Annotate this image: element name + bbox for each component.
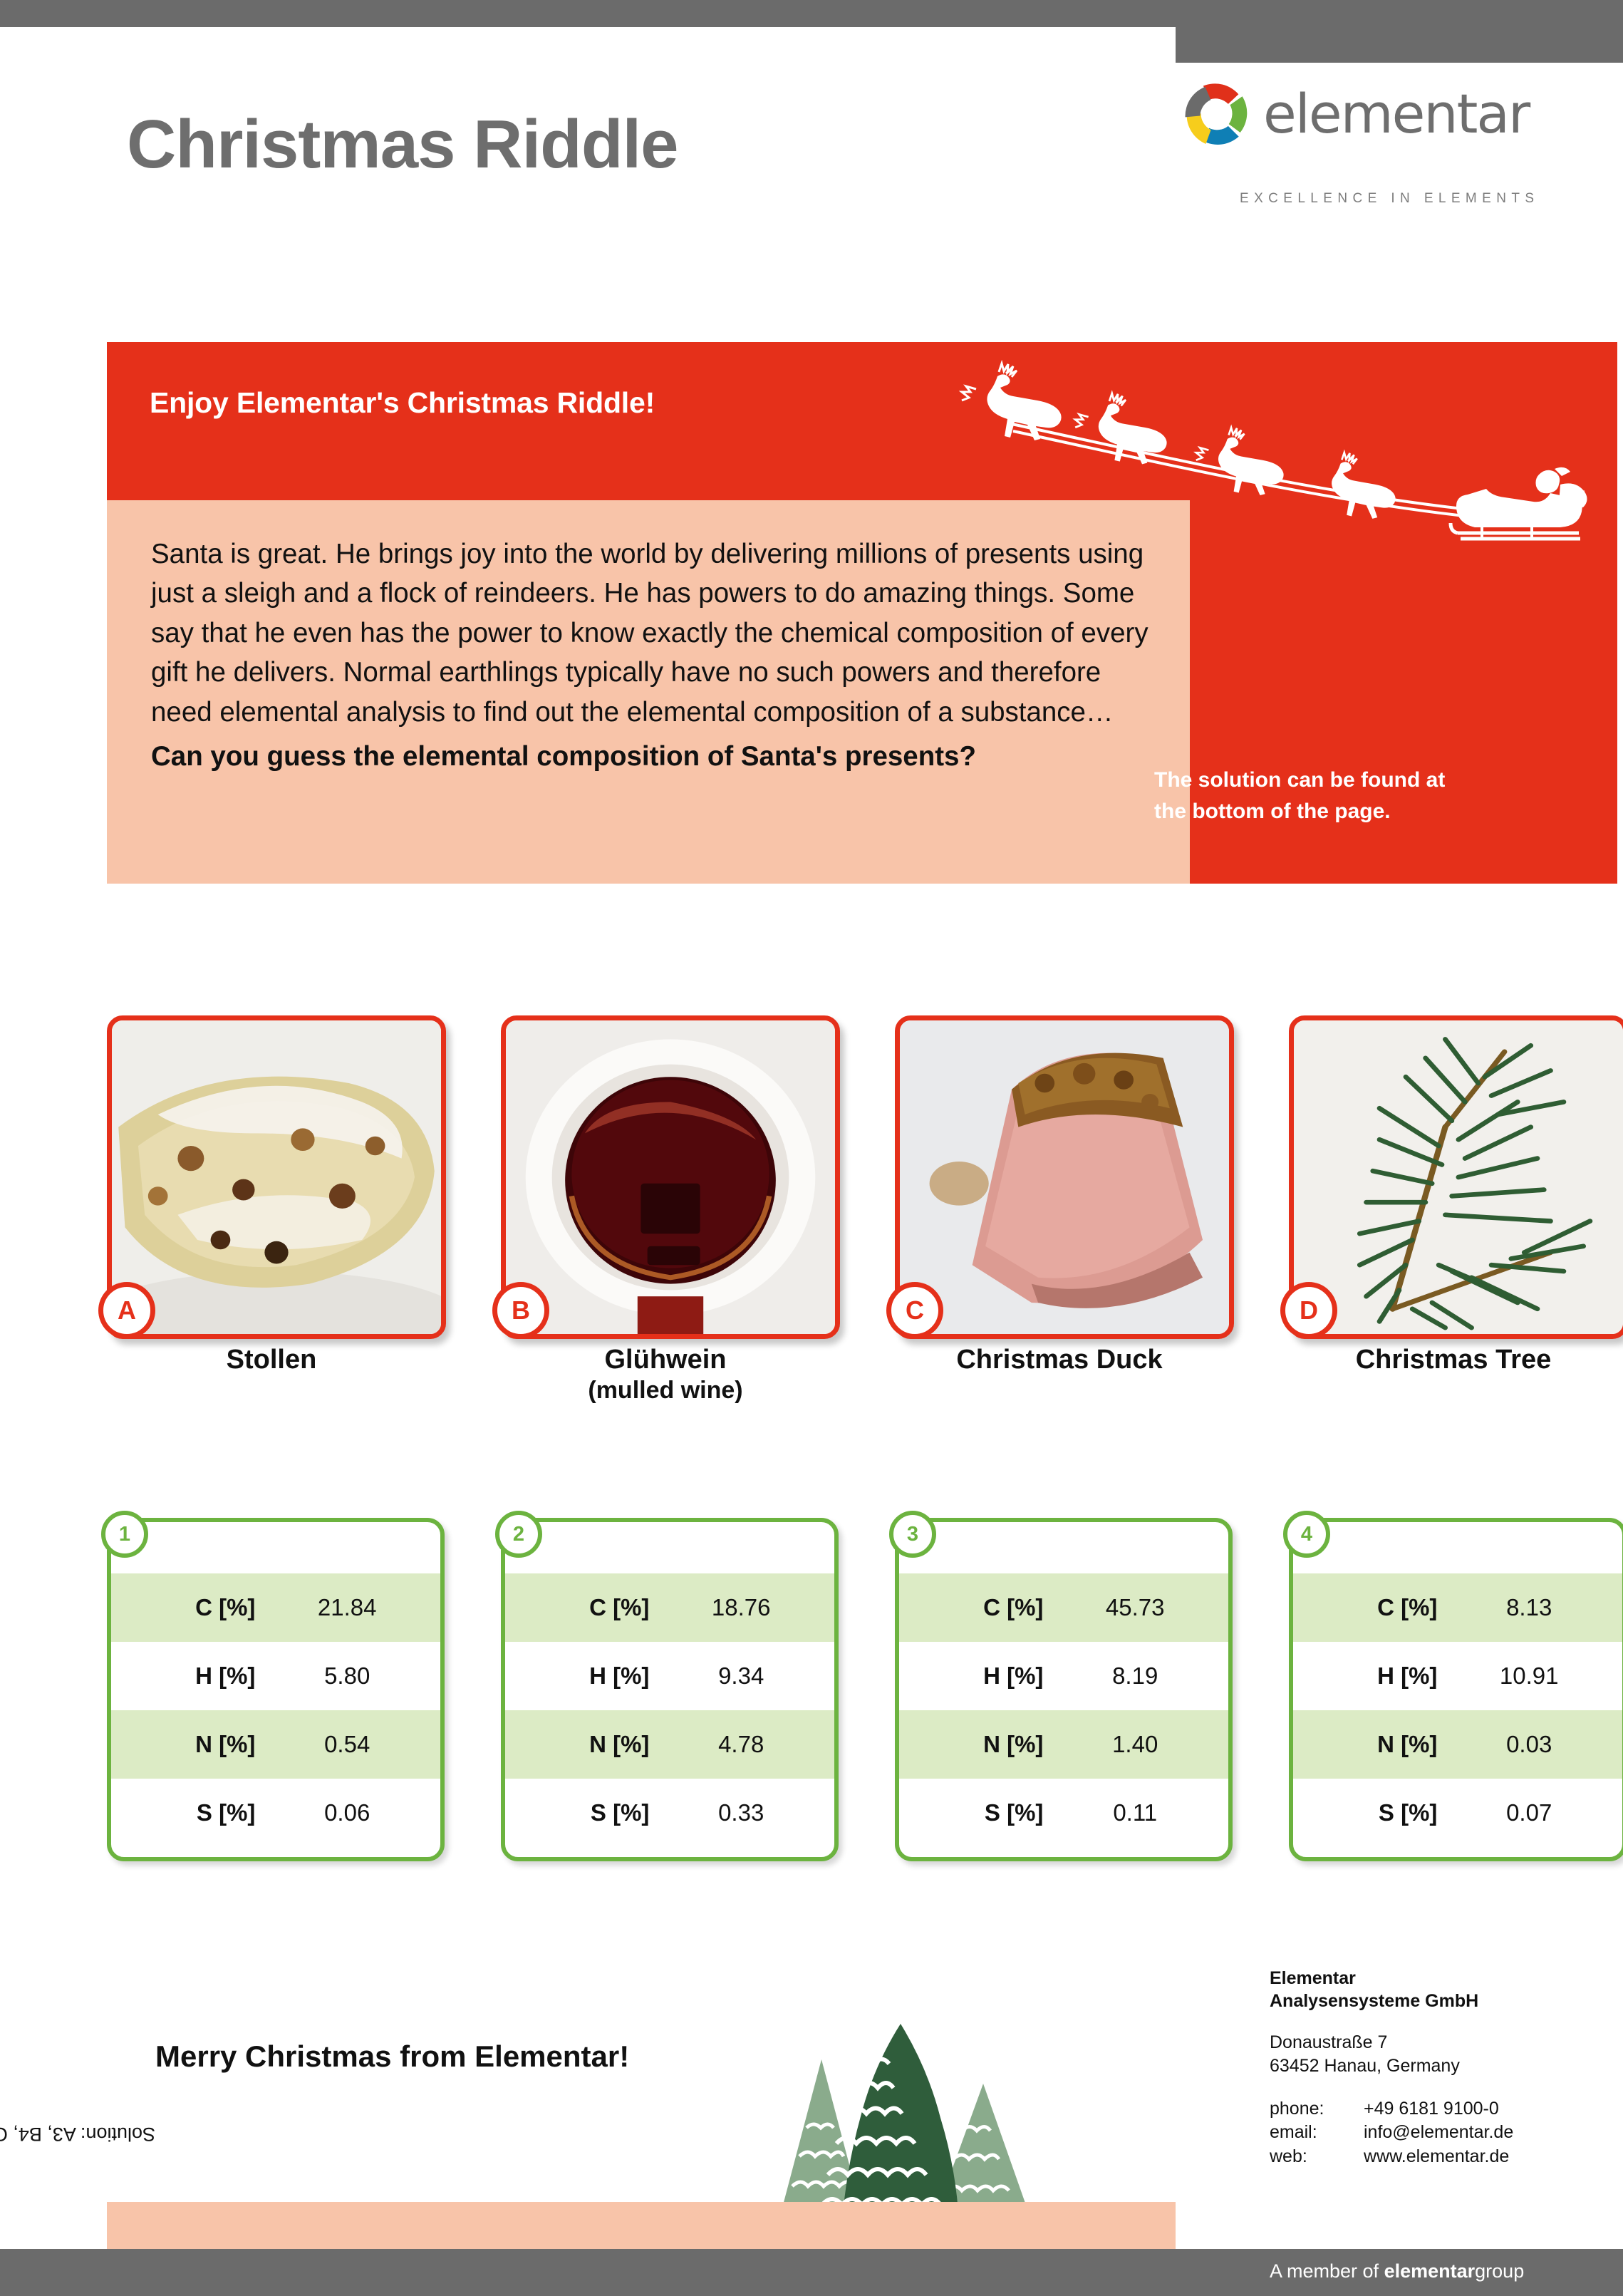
solution-hint: The solution can be found at the bottom … (1154, 765, 1482, 827)
address-line1: Donaustraße 7 (1270, 2031, 1604, 2054)
company-address: Donaustraße 7 63452 Hanau, Germany (1270, 2031, 1604, 2077)
row-key: H [%] (505, 1662, 656, 1690)
sample-cards: A Stollen B Glühwein (mulled wine) (107, 1015, 1617, 1443)
table-row: S [%] 0.06 (111, 1779, 440, 1847)
contact-rows: phone: +49 6181 9100-0 email: info@eleme… (1270, 2097, 1604, 2168)
table-row: C [%] 45.73 (899, 1573, 1228, 1642)
row-value: 0.06 (262, 1799, 440, 1826)
riddle-body-box: Santa is great. He brings joy into the w… (107, 500, 1190, 884)
contact-row-web[interactable]: web: www.elementar.de (1270, 2145, 1604, 2168)
composition-table-2-badge: 2 (495, 1511, 542, 1558)
sample-card-a-badge: A (98, 1282, 155, 1339)
composition-table-3-rows: C [%] 45.73 H [%] 8.19 N [%] 1.40 S [%] … (899, 1573, 1228, 1847)
mulled-wine-photo (506, 1020, 835, 1334)
company-name-line2: Analysensysteme GmbH (1270, 1990, 1604, 2012)
row-key: H [%] (899, 1662, 1050, 1690)
composition-table-4-badge: 4 (1283, 1511, 1330, 1558)
row-key: H [%] (111, 1662, 262, 1690)
email-label: email: (1270, 2121, 1364, 2144)
sample-card-b-badge: B (492, 1282, 549, 1339)
sample-card-d-badge: D (1280, 1282, 1337, 1339)
address-line2: 63452 Hanau, Germany (1270, 2054, 1604, 2078)
row-value: 8.13 (1444, 1594, 1622, 1621)
row-key: C [%] (899, 1594, 1050, 1621)
sample-card-a-frame (107, 1015, 446, 1339)
row-key: N [%] (505, 1731, 656, 1758)
row-value: 21.84 (262, 1594, 440, 1621)
table-row: S [%] 0.11 (899, 1779, 1228, 1847)
contact-row-phone: phone: +49 6181 9100-0 (1270, 2097, 1604, 2121)
sample-card-a-label-main: Stollen (227, 1345, 317, 1375)
sample-card-b-frame (501, 1015, 840, 1339)
row-value: 45.73 (1050, 1594, 1228, 1621)
phone-label: phone: (1270, 2097, 1364, 2121)
contact-block: Elementar Analysensysteme GmbH Donaustra… (1270, 1967, 1604, 2168)
email-value[interactable]: info@elementar.de (1364, 2121, 1513, 2144)
table-row: N [%] 1.40 (899, 1710, 1228, 1779)
company-name-line1: Elementar (1270, 1967, 1604, 1990)
member-of-text: A member of elementargroup (1270, 2260, 1524, 2282)
composition-tables: 1 C [%] 21.84 H [%] 5.80 N [%] 0.54 S [%… (107, 1518, 1617, 1874)
row-value: 0.11 (1050, 1799, 1228, 1826)
elementar-logo-tagline: EXCELLENCE IN ELEMENTS (1240, 191, 1539, 207)
row-key: N [%] (899, 1731, 1050, 1758)
sample-card-b[interactable]: B Glühwein (mulled wine) (501, 1015, 830, 1329)
top-bar-right (1176, 0, 1623, 63)
row-value: 4.78 (656, 1731, 834, 1758)
table-row: C [%] 18.76 (505, 1573, 834, 1642)
contact-row-email[interactable]: email: info@elementar.de (1270, 2121, 1604, 2144)
table-row: H [%] 9.34 (505, 1642, 834, 1710)
composition-table-1-badge: 1 (101, 1511, 148, 1558)
row-value: 9.34 (656, 1662, 834, 1690)
composition-table-3-badge: 3 (889, 1511, 936, 1558)
table-row: N [%] 0.54 (111, 1710, 440, 1779)
stollen-photo (112, 1020, 441, 1334)
composition-table-4[interactable]: 4 C [%] 8.13 H [%] 10.91 N [%] 0.03 S [%… (1289, 1518, 1623, 1861)
sample-card-d-label-main: Christmas Tree (1356, 1345, 1552, 1375)
composition-table-1-rows: C [%] 21.84 H [%] 5.80 N [%] 0.54 S [%] … (111, 1573, 440, 1847)
phone-value: +49 6181 9100-0 (1364, 2097, 1499, 2121)
christmas-duck-photo (900, 1020, 1229, 1334)
top-bar-left (0, 0, 1176, 27)
table-row: C [%] 21.84 (111, 1573, 440, 1642)
sample-card-c-badge: C (886, 1282, 943, 1339)
christmas-trees-icon (748, 2017, 1047, 2223)
sample-card-d[interactable]: D Christmas Tree (1289, 1015, 1618, 1329)
member-bold: elementar (1384, 2260, 1476, 2282)
sample-card-c-label: Christmas Duck (895, 1343, 1224, 1376)
table-row: H [%] 5.80 (111, 1642, 440, 1710)
web-label: web: (1270, 2145, 1364, 2168)
row-value: 10.91 (1444, 1662, 1622, 1690)
table-row: S [%] 0.33 (505, 1779, 834, 1847)
riddle-question: Can you guess the elemental composition … (151, 741, 1163, 772)
row-value: 18.76 (656, 1594, 834, 1621)
row-key: S [%] (111, 1799, 262, 1826)
composition-table-2[interactable]: 2 C [%] 18.76 H [%] 9.34 N [%] 4.78 S [%… (501, 1518, 839, 1861)
sample-card-c-frame (895, 1015, 1234, 1339)
member-prefix: A member of (1270, 2260, 1384, 2282)
row-value: 8.19 (1050, 1662, 1228, 1690)
member-suffix: group (1475, 2260, 1524, 2282)
elementar-logo-mark (1179, 77, 1254, 152)
row-value: 5.80 (262, 1662, 440, 1690)
row-key: N [%] (111, 1731, 262, 1758)
merry-christmas-text: Merry Christmas from Elementar! (155, 2039, 629, 2074)
composition-table-1[interactable]: 1 C [%] 21.84 H [%] 5.80 N [%] 0.54 S [%… (107, 1518, 445, 1861)
elementar-logo-wordmark: elementar (1263, 87, 1529, 141)
table-row: N [%] 4.78 (505, 1710, 834, 1779)
row-key: H [%] (1293, 1662, 1444, 1690)
riddle-heading: Enjoy Elementar's Christmas Riddle! (150, 386, 655, 420)
sample-card-d-label: Christmas Tree (1289, 1343, 1618, 1376)
row-value: 0.03 (1444, 1731, 1622, 1758)
solution-answer-upside-down: Solution: A3, B4, C2, D1 (0, 2123, 155, 2145)
table-row: H [%] 10.91 (1293, 1642, 1622, 1710)
sample-card-a-label: Stollen (107, 1343, 436, 1376)
table-row: C [%] 8.13 (1293, 1573, 1622, 1642)
row-value: 1.40 (1050, 1731, 1228, 1758)
row-value: 0.07 (1444, 1799, 1622, 1826)
row-key: C [%] (1293, 1594, 1444, 1621)
sample-card-b-label-sub: (mulled wine) (501, 1376, 830, 1405)
sample-card-c[interactable]: C Christmas Duck (895, 1015, 1224, 1329)
web-value[interactable]: www.elementar.de (1364, 2145, 1509, 2168)
row-key: S [%] (505, 1799, 656, 1826)
table-row: S [%] 0.07 (1293, 1779, 1622, 1847)
row-key: C [%] (111, 1594, 262, 1621)
composition-table-4-rows: C [%] 8.13 H [%] 10.91 N [%] 0.03 S [%] … (1293, 1573, 1622, 1847)
sample-card-c-label-main: Christmas Duck (956, 1345, 1162, 1375)
sample-card-a[interactable]: A Stollen (107, 1015, 436, 1329)
elementar-logo: elementar (1179, 77, 1550, 162)
row-value: 0.33 (656, 1799, 834, 1826)
sample-card-b-label: Glühwein (mulled wine) (501, 1343, 830, 1406)
table-row: N [%] 0.03 (1293, 1710, 1622, 1779)
row-key: S [%] (1293, 1799, 1444, 1826)
sample-card-b-label-main: Glühwein (605, 1345, 727, 1375)
sample-card-d-frame (1289, 1015, 1623, 1339)
company-name: Elementar Analysensysteme GmbH (1270, 1967, 1604, 2012)
row-key: S [%] (899, 1799, 1050, 1826)
row-key: C [%] (505, 1594, 656, 1621)
page-title: Christmas Riddle (127, 105, 678, 184)
row-key: N [%] (1293, 1731, 1444, 1758)
composition-table-2-rows: C [%] 18.76 H [%] 9.34 N [%] 4.78 S [%] … (505, 1573, 834, 1847)
table-row: H [%] 8.19 (899, 1642, 1228, 1710)
composition-table-3[interactable]: 3 C [%] 45.73 H [%] 8.19 N [%] 1.40 S [%… (895, 1518, 1233, 1861)
row-value: 0.54 (262, 1731, 440, 1758)
riddle-body-text: Santa is great. He brings joy into the w… (151, 534, 1148, 732)
fir-branch-photo (1294, 1020, 1623, 1334)
